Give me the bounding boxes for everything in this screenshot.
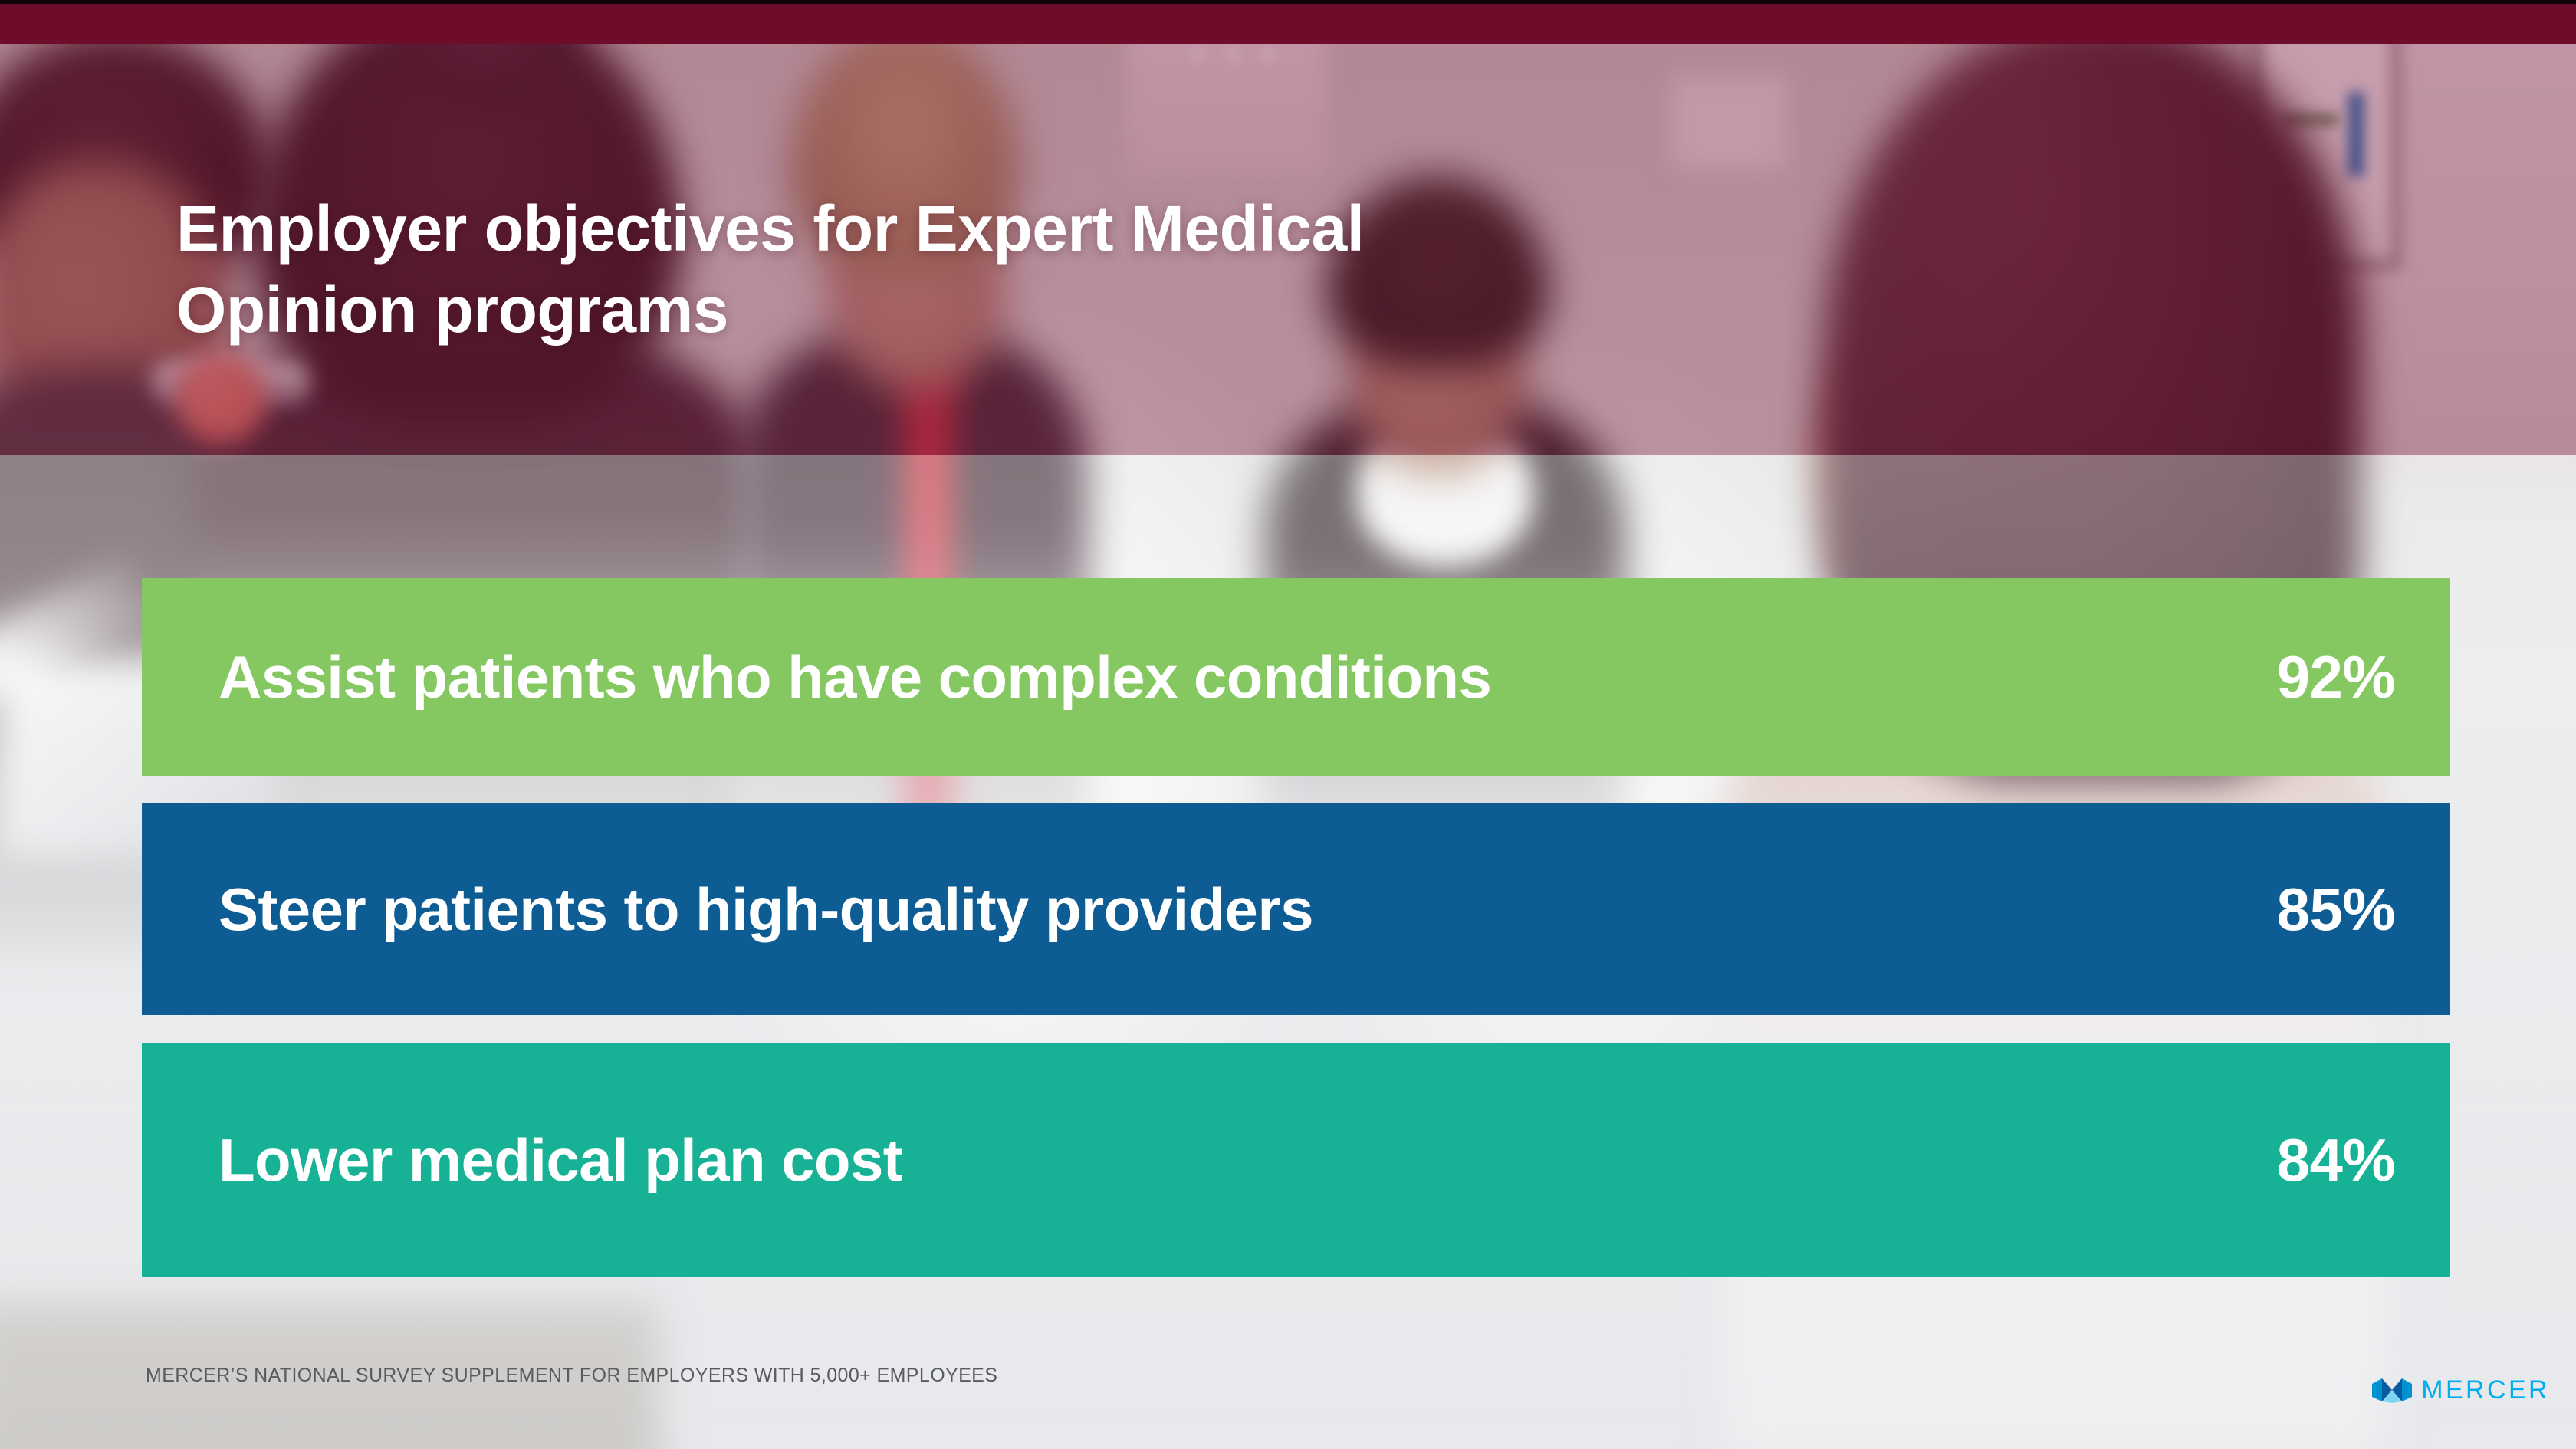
page-title-line-1: Employer objectives for Expert Medical bbox=[176, 192, 1365, 264]
mercer-logo: MERCER bbox=[2372, 1377, 2550, 1403]
bar-row[interactable]: Steer patients to high-quality providers… bbox=[142, 803, 2450, 1015]
bar-value: 84% bbox=[2277, 1125, 2395, 1195]
photo-poster-blue-bar bbox=[2348, 92, 2364, 176]
bar-row[interactable]: Lower medical plan cost 84% bbox=[142, 1043, 2450, 1277]
mercer-butterfly-m-mark bbox=[2372, 1377, 2412, 1403]
page-title: Employer objectives for Expert Medical O… bbox=[176, 189, 1786, 351]
brand-header-bar bbox=[0, 4, 2576, 44]
mercer-wordmark: MERCER bbox=[2421, 1377, 2550, 1403]
bar-label: Steer patients to high-quality providers bbox=[219, 875, 1313, 945]
photo-paper-sheet bbox=[1671, 77, 1786, 169]
bar-label: Lower medical plan cost bbox=[219, 1125, 902, 1195]
slide-canvas: Employer objectives for Expert Medical O… bbox=[0, 0, 2576, 1449]
bar-row[interactable]: Assist patients who have complex conditi… bbox=[142, 578, 2450, 776]
bar-value: 92% bbox=[2277, 642, 2395, 712]
photo-wall-dots bbox=[1187, 44, 1279, 64]
page-title-line-2: Opinion programs bbox=[176, 274, 728, 346]
bar-label: Assist patients who have complex conditi… bbox=[219, 642, 1491, 712]
source-footnote: MERCER’S NATIONAL SURVEY SUPPLEMENT FOR … bbox=[146, 1365, 997, 1387]
objectives-bar-chart: Assist patients who have complex conditi… bbox=[142, 578, 2450, 1277]
photo-mug bbox=[175, 353, 267, 445]
bar-value: 85% bbox=[2277, 875, 2395, 945]
